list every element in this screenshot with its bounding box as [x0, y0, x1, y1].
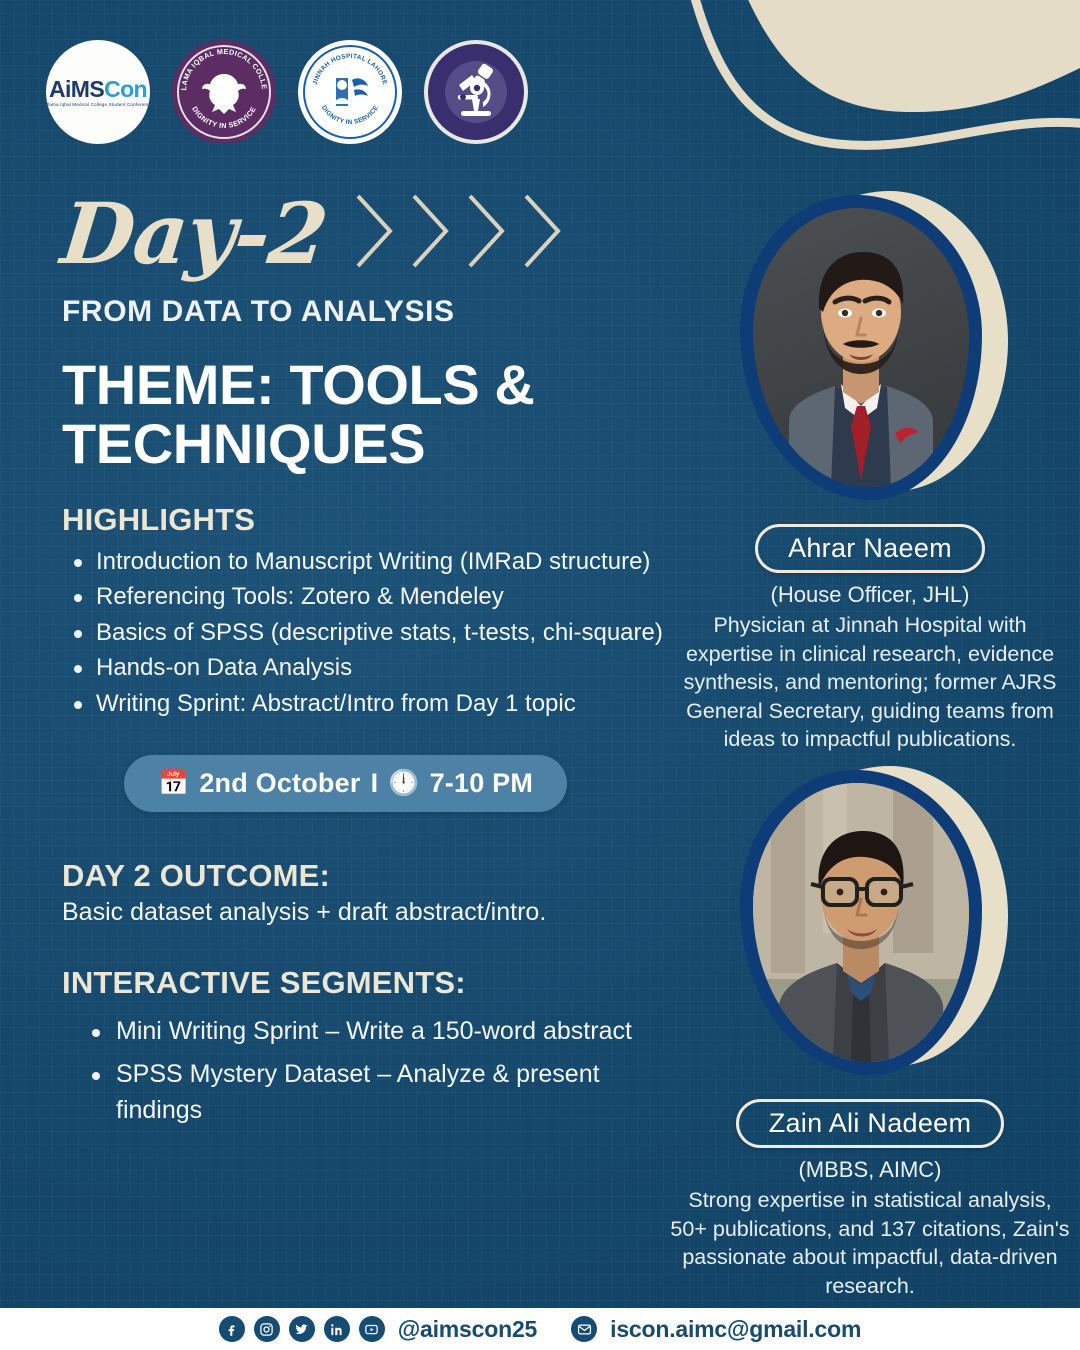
day-title: Day-2	[58, 194, 331, 274]
chevron-group	[350, 186, 570, 276]
highlights-list: Introduction to Manuscript Writing (IMRa…	[62, 544, 682, 722]
decorative-blob	[668, 0, 1080, 224]
microscope-icon	[441, 57, 511, 127]
aimscon-word-main: AiMS	[49, 76, 104, 102]
aimscon-wordmark: AiMSCon	[49, 78, 147, 101]
list-item: Introduction to Manuscript Writing (IMRa…	[62, 544, 682, 580]
speaker-bio: Strong expertise in statistical analysis…	[660, 1186, 1080, 1300]
social-links-group: @aimscon25	[219, 1316, 537, 1343]
speaker-portrait	[753, 783, 969, 1062]
avatar	[753, 208, 969, 487]
aimscon-logo: AiMSCon Allama Iqbal Medical College Stu…	[46, 40, 150, 144]
interactive-list: Mini Writing Sprint – Write a 150-word a…	[62, 1013, 682, 1128]
speaker-role: (MBBS, AIMC)	[660, 1157, 1080, 1183]
outcome-heading: DAY 2 OUTCOME:	[62, 858, 682, 894]
theme-heading: THEME: TOOLS & TECHNIQUES	[62, 355, 682, 474]
facebook-icon[interactable]	[219, 1316, 245, 1342]
seal-ring	[303, 45, 397, 139]
speaker-portrait	[753, 208, 969, 487]
list-item: Mini Writing Sprint – Write a 150-word a…	[82, 1013, 682, 1049]
seal-text: ALLAMA IQBAL MEDICAL COLLEGE DIGNITY IN …	[172, 40, 276, 144]
date-time-badge: 📅 2nd October I 🕛 7-10 PM	[124, 755, 567, 812]
list-item: Hands-on Data Analysis	[62, 650, 682, 686]
highlights-heading: HIGHLIGHTS	[62, 502, 682, 538]
envelope-icon[interactable]	[571, 1316, 597, 1342]
theme-line-2: TECHNIQUES	[62, 414, 682, 473]
event-date: 2nd October	[199, 768, 360, 799]
schedule-row: 📅 2nd October I 🕛 7-10 PM	[62, 755, 682, 812]
allama-iqbal-medical-college-logo: ALLAMA IQBAL MEDICAL COLLEGE DIGNITY IN …	[172, 40, 276, 144]
footer-bar: @aimscon25 iscon.aimc@gmail.com	[0, 1308, 1080, 1350]
chevron-right-icon	[518, 186, 570, 276]
left-content-column: Day-2 FROM DATA TO ANALYSIS THEME: TOOLS…	[62, 175, 682, 1134]
avatar	[753, 783, 969, 1062]
clock-icon: 🕛	[388, 771, 419, 796]
linkedin-icon[interactable]	[324, 1316, 350, 1342]
speaker-photo-stack	[740, 195, 1000, 510]
speaker-card-zain-ali-nadeem: Zain Ali Nadeem (MBBS, AIMC) Strong expe…	[660, 770, 1080, 1300]
day-title-row: Day-2	[62, 175, 682, 293]
calendar-icon: 📅	[158, 771, 189, 796]
speaker-bio: Physician at Jinnah Hospital with expert…	[660, 611, 1080, 754]
outcome-section: DAY 2 OUTCOME: Basic dataset analysis + …	[62, 858, 682, 927]
contact-email[interactable]: iscon.aimc@gmail.com	[610, 1316, 861, 1343]
social-handle[interactable]: @aimscon25	[398, 1316, 537, 1343]
list-item: Basics of SPSS (descriptive stats, t-tes…	[62, 615, 682, 651]
outcome-text: Basic dataset analysis + draft abstract/…	[62, 898, 682, 927]
chevron-right-icon	[406, 186, 458, 276]
speaker-role: (House Officer, JHL)	[660, 582, 1080, 608]
speaker-name-badge: Ahrar Naeem	[755, 524, 985, 573]
speaker-card-ahrar-naeem: Ahrar Naeem (House Officer, JHL) Physici…	[660, 195, 1080, 754]
photo-frame	[740, 195, 982, 500]
speaker-photo-stack	[740, 770, 1000, 1085]
aimscon-word-accent: Con	[104, 76, 147, 102]
schedule-separator: I	[371, 768, 379, 799]
list-item: Writing Sprint: Abstract/Intro from Day …	[62, 686, 682, 722]
speaker-name-badge: Zain Ali Nadeem	[736, 1099, 1005, 1148]
interactive-heading: INTERACTIVE SEGMENTS:	[62, 965, 682, 1001]
jinnah-hospital-lahore-logo: JINNAH HOSPITAL LAHORE DIGNITY IN SERVIC…	[298, 40, 402, 144]
day-subtitle: FROM DATA TO ANALYSIS	[62, 295, 682, 329]
highlights-section: HIGHLIGHTS Introduction to Manuscript Wr…	[62, 502, 682, 722]
list-item: Referencing Tools: Zotero & Mendeley	[62, 579, 682, 615]
microscope-research-logo	[424, 40, 528, 144]
instagram-icon[interactable]	[254, 1316, 280, 1342]
aimscon-subtitle: Allama Iqbal Medical College Student Con…	[46, 102, 150, 107]
chevron-right-icon	[350, 186, 402, 276]
youtube-icon[interactable]	[359, 1316, 385, 1342]
list-item: SPSS Mystery Dataset – Analyze & present…	[82, 1056, 682, 1129]
email-group: iscon.aimc@gmail.com	[571, 1316, 861, 1343]
partner-logos: AiMSCon Allama Iqbal Medical College Stu…	[46, 40, 528, 144]
photo-frame	[740, 770, 982, 1075]
chevron-right-icon	[462, 186, 514, 276]
twitter-icon[interactable]	[289, 1316, 315, 1342]
interactive-segments-section: INTERACTIVE SEGMENTS: Mini Writing Sprin…	[62, 965, 682, 1128]
theme-line-1: THEME: TOOLS &	[62, 355, 682, 414]
event-time: 7-10 PM	[430, 768, 533, 799]
